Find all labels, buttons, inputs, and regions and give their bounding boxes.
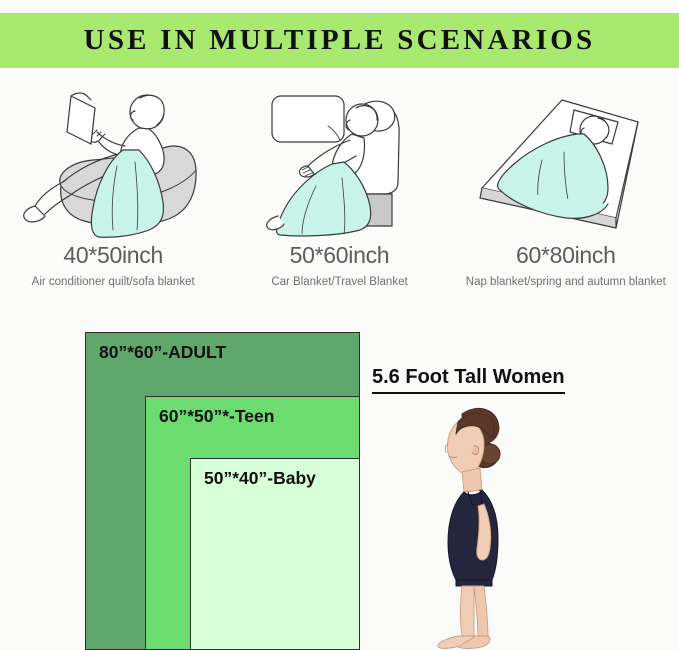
page-title: USE IN MULTIPLE SCENARIOS [84, 24, 596, 57]
scenario-caption: Air conditioner quilt/sofa blanket [32, 276, 195, 288]
scenario-item: 60*80inch Nap blanket/spring and autumn … [453, 78, 679, 296]
person-reading-on-beanbag-icon [0, 78, 226, 238]
standing-woman-profile-icon [400, 400, 530, 650]
scenario-item: 50*60inch Car Blanket/Travel Blanket [226, 78, 452, 296]
size-box-baby: 50”*40”-Baby [190, 458, 360, 650]
size-box-teen-label: 60”*50”*-Teen [159, 406, 274, 427]
woman-reference-panel: 5.6 Foot Tall Women [372, 366, 612, 650]
scenario-size-label: 60*80inch [516, 242, 616, 269]
scenario-caption: Car Blanket/Travel Blanket [271, 276, 407, 288]
scenario-caption: Nap blanket/spring and autumn blanket [466, 276, 666, 288]
scenario-item: 40*50inch Air conditioner quilt/sofa bla… [0, 78, 226, 296]
woman-heading: 5.6 Foot Tall Women [372, 366, 565, 394]
size-box-adult-label: 80”*60”-ADULT [99, 342, 226, 363]
size-box-baby-label: 50”*40”-Baby [204, 468, 316, 489]
scenario-size-label: 50*60inch [290, 242, 390, 269]
size-comparison-chart: 80”*60”-ADULT 60”*50”*-Teen 50”*40”-Baby [85, 332, 360, 650]
person-sleeping-in-bed-icon [453, 78, 679, 238]
header-banner: USE IN MULTIPLE SCENARIOS [0, 13, 679, 68]
scenarios-row: 40*50inch Air conditioner quilt/sofa bla… [0, 78, 679, 296]
scenario-size-label: 40*50inch [63, 242, 163, 269]
person-in-car-seat-icon [226, 78, 452, 238]
